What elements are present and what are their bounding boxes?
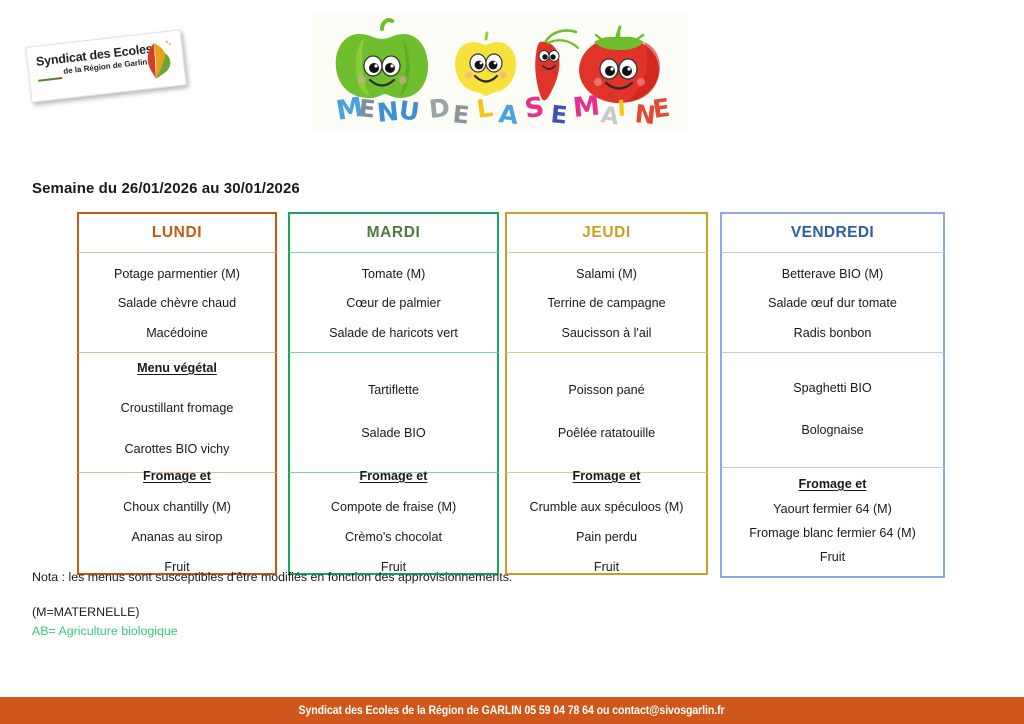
day-header-label: LUNDI bbox=[79, 214, 275, 252]
banner-letter: U bbox=[397, 95, 421, 127]
menu-item: Ananas au sirop bbox=[79, 530, 275, 544]
banner-letter: E bbox=[451, 100, 470, 130]
day-column-jeudi: JEUDISalami (M)Terrine de campagneSaucis… bbox=[505, 212, 708, 575]
plat-section: Spaghetti BIOBolognaise bbox=[720, 353, 945, 468]
menu-item: Saucisson à l'ail bbox=[507, 326, 706, 340]
entree-section: Salami (M)Terrine de campagneSaucisson à… bbox=[505, 253, 708, 353]
banner-illustration: MENUDELASEMAINE bbox=[312, 12, 688, 132]
dessert-section: Fromage etCompote de fraise (M)Crèmo's c… bbox=[288, 473, 499, 575]
dessert-section: Fromage etChoux chantilly (M)Ananas au s… bbox=[77, 473, 277, 575]
day-column-lundi: LUNDIPotage parmentier (M)Salade chèvre … bbox=[77, 212, 277, 575]
menu-item: Macédoine bbox=[79, 326, 275, 340]
banner-letter: M bbox=[571, 90, 601, 124]
weekly-menu-grid: LUNDIPotage parmentier (M)Salade chèvre … bbox=[77, 212, 945, 572]
banner-letter: E bbox=[549, 100, 568, 130]
menu-item: Choux chantilly (M) bbox=[79, 500, 275, 514]
footer-contact-text: Syndicat des Ecoles de la Région de GARL… bbox=[299, 705, 725, 717]
menu-item: Poêlée ratatouille bbox=[507, 426, 706, 440]
menu-item: Salade BIO bbox=[290, 426, 497, 440]
menu-item: Bolognaise bbox=[722, 423, 943, 437]
menu-item: Poisson pané bbox=[507, 383, 706, 397]
plat-section: Poisson panéPoêlée ratatouille bbox=[505, 353, 708, 473]
menu-item: Croustillant fromage bbox=[79, 401, 275, 415]
banner-letter: D bbox=[428, 93, 452, 124]
menu-item: Salade chèvre chaud bbox=[79, 296, 275, 310]
menu-item: Pain perdu bbox=[507, 530, 706, 544]
notes-block: Nota : les menus sont susceptibles d'êtr… bbox=[32, 568, 652, 642]
note-nota: Nota : les menus sont susceptibles d'êtr… bbox=[32, 568, 652, 587]
day-header-label: JEUDI bbox=[507, 214, 706, 252]
menu-item: Compote de fraise (M) bbox=[290, 500, 497, 514]
entree-section: Potage parmentier (M)Salade chèvre chaud… bbox=[77, 253, 277, 353]
menu-item: Cœur de palmier bbox=[290, 296, 497, 310]
menu-item: Fromage blanc fermier 64 (M) bbox=[722, 526, 943, 540]
entree-section: Tomate (M)Cœur de palmierSalade de haric… bbox=[288, 253, 499, 353]
note-maternelle: (M=MATERNELLE) bbox=[32, 603, 652, 622]
dessert-section: Fromage etYaourt fermier 64 (M)Fromage b… bbox=[720, 468, 945, 578]
menu-item: Yaourt fermier 64 (M) bbox=[722, 502, 943, 516]
menu-item: Tomate (M) bbox=[290, 267, 497, 281]
plat-section: TartifletteSalade BIO bbox=[288, 353, 499, 473]
menu-item: Salami (M) bbox=[507, 267, 706, 281]
banner-letter: I bbox=[617, 96, 627, 122]
banner-letter: A bbox=[497, 99, 520, 130]
organization-logo: Syndicat des Ecoles de la Région de Garl… bbox=[25, 29, 186, 102]
menu-banner: MENUDELASEMAINE bbox=[312, 12, 688, 132]
note-agriculture-biologique: AB= Agriculture biologique bbox=[32, 622, 652, 641]
menu-item: Potage parmentier (M) bbox=[79, 267, 275, 281]
menu-item: Terrine de campagne bbox=[507, 296, 706, 310]
plat-subtitle: Menu végétal bbox=[79, 361, 275, 375]
day-column-mardi: MARDITomate (M)Cœur de palmierSalade de … bbox=[288, 212, 499, 575]
menu-item: Betterave BIO (M) bbox=[722, 267, 943, 281]
entree-section: Betterave BIO (M)Salade œuf dur tomateRa… bbox=[720, 253, 945, 353]
dessert-subtitle: Fromage et bbox=[722, 477, 943, 491]
dessert-subtitle: Fromage et bbox=[290, 469, 497, 483]
menu-page: Syndicat des Ecoles de la Région de Garl… bbox=[0, 0, 1024, 724]
menu-item: Crumble aux spéculoos (M) bbox=[507, 500, 706, 514]
leaf-butterfly-icon bbox=[132, 38, 175, 84]
day-column-vendredi: VENDREDIBetterave BIO (M)Salade œuf dur … bbox=[720, 212, 945, 578]
logo-rule bbox=[38, 77, 62, 82]
banner-letter: N bbox=[376, 97, 401, 129]
menu-item: Crèmo's chocolat bbox=[290, 530, 497, 544]
menu-item: Salade de haricots vert bbox=[290, 326, 497, 340]
plat-section: Menu végétalCroustillant fromageCarottes… bbox=[77, 353, 277, 473]
menu-item: Carottes BIO vichy bbox=[79, 442, 275, 456]
menu-item: Salade œuf dur tomate bbox=[722, 296, 943, 310]
day-header-label: VENDREDI bbox=[722, 214, 943, 252]
banner-letter: E bbox=[357, 94, 376, 124]
footer-bar: Syndicat des Ecoles de la Région de GARL… bbox=[0, 697, 1024, 724]
menu-item: Radis bonbon bbox=[722, 326, 943, 340]
dessert-section: Fromage etCrumble aux spéculoos (M)Pain … bbox=[505, 473, 708, 575]
page-title: Semaine du 26/01/2026 au 30/01/2026 bbox=[32, 180, 300, 197]
day-header-label: MARDI bbox=[290, 214, 497, 252]
dessert-subtitle: Fromage et bbox=[79, 469, 275, 483]
menu-item: Spaghetti BIO bbox=[722, 381, 943, 395]
menu-item: Fruit bbox=[722, 550, 943, 564]
menu-item: Tartiflette bbox=[290, 383, 497, 397]
dessert-subtitle: Fromage et bbox=[507, 469, 706, 483]
